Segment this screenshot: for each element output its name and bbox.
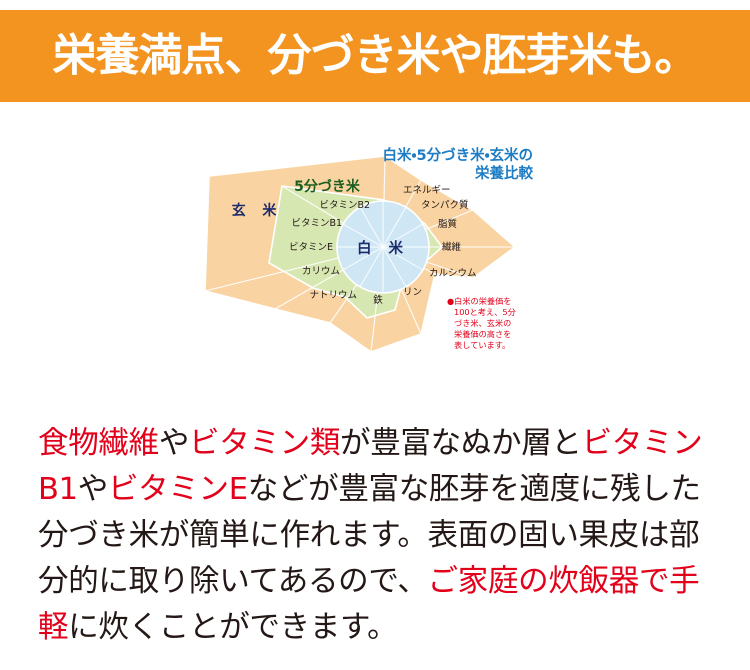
chart-note-line-5: 表しています。 (454, 340, 510, 350)
axis-label-fiber: 繊維 (442, 241, 462, 253)
radar-chart-svg: 白米・5分づき米・玄米の 栄養比較 玄 米 5分づき米 白 米 エネルギー タン… (185, 138, 545, 370)
axis-label-phosphorus: リン (403, 287, 422, 298)
body-highlight-6: ビタミンE (108, 472, 248, 507)
axis-label-iron: 鉄 (373, 294, 383, 306)
axis-label-vitamin-e: ビタミンE (289, 242, 333, 253)
body-text-9: に炊くことができます。 (68, 610, 397, 645)
series-label-genmai: 玄 米 (232, 202, 283, 219)
axis-label-calcium: カルシウム (429, 268, 477, 279)
chart-note: ●白米の栄養価を 100と考え、5分 づき米、玄米の 栄養価の高さを 表していま… (447, 296, 516, 350)
body-highlight-0: 食物繊維 (38, 426, 159, 461)
body-text-1: や (159, 426, 189, 461)
series-label-hakumai: 白 米 (357, 239, 409, 257)
chart-note-line-4: 栄養価の高さを (454, 329, 511, 339)
body-paragraph: 食物繊維やビタミン類が豊富なぬか層とビタミンB1やビタミンEなどが豊富な胚芽を適… (38, 421, 724, 651)
chart-title-line1: 白米・5分づき米・玄米の (383, 146, 533, 164)
axis-label-protein: タンパク質 (421, 199, 469, 211)
header-banner: 栄養満点、分づき米や胚芽米も。 (0, 10, 750, 102)
chart-note-line-2: 100と考え、5分 (454, 307, 516, 317)
axis-label-energy: エネルギー (403, 185, 451, 196)
axis-label-vitamin-b2: ビタミンB2 (319, 200, 370, 211)
chart-note-line-1: ●白米の栄養価を (447, 296, 511, 306)
axis-label-sodium: ナトリウム (309, 290, 357, 301)
axis-label-fat: 脂質 (438, 218, 457, 230)
body-highlight-2: ビタミン類 (189, 426, 340, 461)
body-text-5: や (78, 472, 108, 507)
body-text-3: が豊富なぬか層と (340, 426, 582, 461)
series-label-gobuzuki: 5分づき米 (294, 178, 361, 195)
axis-label-potassium: カリウム (302, 266, 340, 277)
nutrition-radar-chart: 白米・5分づき米・玄米の 栄養比較 玄 米 5分づき米 白 米 エネルギー タン… (185, 138, 545, 370)
page-title: 栄養満点、分づき米や胚芽米も。 (53, 34, 698, 78)
chart-note-line-3: づき米、玄米の (454, 318, 511, 328)
axis-label-vitamin-b1: ビタミンB1 (291, 218, 342, 229)
chart-title-line2: 栄養比較 (474, 164, 533, 182)
